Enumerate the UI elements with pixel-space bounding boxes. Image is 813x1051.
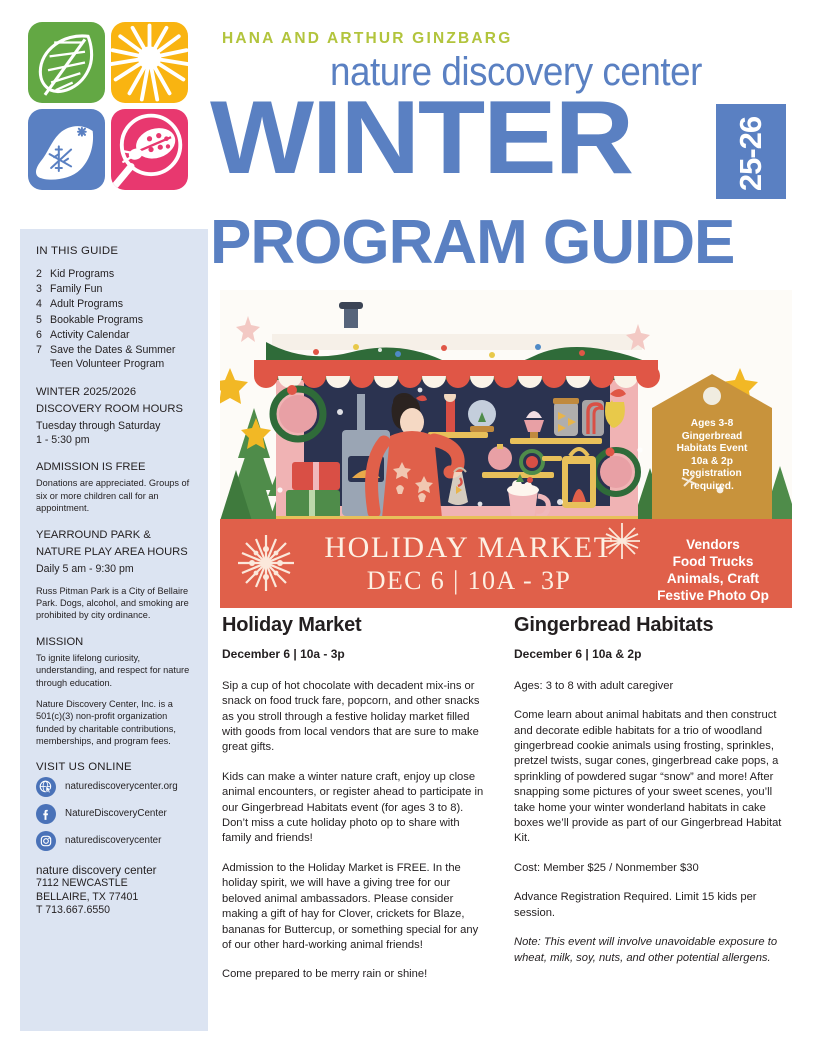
page-title: PROGRAM GUIDE	[210, 212, 734, 274]
sign-line: required.	[654, 481, 770, 494]
year-badge: 25-26	[716, 104, 786, 199]
program-guide-page: HANA AND ARTHUR GINZBARG nature discover…	[0, 0, 813, 1051]
admission-title: ADMISSION IS FREE	[36, 460, 192, 474]
list-item[interactable]: 7 Save the Dates & Summer Teen Volunteer…	[36, 343, 192, 371]
article-cost: Cost: Member $25 / Nonmember $30	[514, 861, 790, 876]
list-item[interactable]: 3 Family Fun	[36, 282, 192, 296]
address-city-state: BELLAIRE, TX 77401	[36, 891, 192, 905]
spacer	[36, 689, 192, 698]
magnifier-ladybug-icon	[111, 109, 188, 190]
toc-heading: IN THIS GUIDE	[36, 245, 192, 257]
season-title: WINTER	[210, 96, 632, 181]
article-paragraph: Come learn about animal habitats and the…	[514, 708, 790, 847]
holiday-market-poster: HOLIDAY MARKET DEC 6 | 10A - 3P Vendors …	[220, 290, 792, 608]
table-of-contents: 2 Kid Programs 3 Family Fun 4 Adult Prog…	[36, 267, 192, 371]
website-link[interactable]: naturediscoverycenter.org	[36, 777, 192, 797]
toc-label: Family Fun	[50, 282, 192, 296]
article-allergen-note: Note: This event will involve unavoidabl…	[514, 935, 790, 966]
address-name: nature discovery center	[36, 864, 192, 878]
sign-line: 10a & 2p	[654, 456, 770, 469]
address-block: nature discovery center 7112 NEWCASTLE B…	[36, 864, 192, 918]
article-ages: Ages: 3 to 8 with adult caregiver	[514, 679, 790, 694]
address-street: 7112 NEWCASTLE	[36, 877, 192, 891]
toc-page-number: 2	[36, 267, 50, 281]
park-hours-block: YEARROUND PARK & NATURE PLAY AREA HOURS …	[36, 528, 192, 622]
poster-features: Vendors Food Trucks Animals, Craft Festi…	[638, 536, 788, 604]
poster-title: HOLIDAY MARKET	[304, 531, 634, 565]
toc-label: Save the Dates & Summer Teen Volunteer P…	[50, 343, 192, 371]
article-holiday-market: Holiday Market December 6 | 10a - 3p Sip…	[222, 618, 486, 997]
toc-page-number: 7	[36, 343, 50, 371]
park-title-line2: NATURE PLAY AREA HOURS	[36, 545, 192, 559]
feature-line: Vendors	[638, 536, 788, 553]
org-tagline: HANA AND ARTHUR GINZBARG	[222, 30, 512, 48]
hours-time: 1 - 5:30 pm	[36, 433, 192, 447]
article-gingerbread-habitats: Gingerbread Habitats December 6 | 10a & …	[514, 618, 790, 980]
mission-block: MISSION To ignite lifelong curiosity, un…	[36, 635, 192, 748]
article-paragraph: Sip a cup of hot chocolate with decadent…	[222, 679, 486, 756]
facebook-icon	[36, 804, 56, 824]
year-badge-label: 25-26	[733, 106, 769, 202]
instagram-label: naturediscoverycenter	[65, 835, 161, 846]
article-registration: Advance Registration Required. Limit 15 …	[514, 890, 790, 921]
address-phone: T 713.667.6550	[36, 904, 192, 918]
toc-page-number: 6	[36, 328, 50, 342]
sun-icon	[111, 22, 188, 103]
page-header: HANA AND ARTHUR GINZBARG nature discover…	[0, 0, 813, 212]
info-sidebar: IN THIS GUIDE 2 Kid Programs 3 Family Fu…	[20, 229, 208, 1031]
list-item[interactable]: 5 Bookable Programs	[36, 313, 192, 327]
toc-page-number: 4	[36, 297, 50, 311]
article-paragraph: Admission to the Holiday Market is FREE.…	[222, 861, 486, 953]
visit-online-block: VISIT US ONLINE naturediscoverycenter.or…	[36, 761, 192, 851]
toc-page-number: 5	[36, 313, 50, 327]
discovery-room-hours-block: WINTER 2025/2026 DISCOVERY ROOM HOURS Tu…	[36, 385, 192, 447]
list-item[interactable]: 4 Adult Programs	[36, 297, 192, 311]
organization-logo	[28, 22, 188, 190]
list-item[interactable]: 6 Activity Calendar	[36, 328, 192, 342]
instagram-link[interactable]: naturediscoverycenter	[36, 831, 192, 851]
website-label: naturediscoverycenter.org	[65, 781, 178, 792]
toc-label: Activity Calendar	[50, 328, 192, 342]
website-globe-icon	[36, 777, 56, 797]
park-note: Russ Pitman Park is a City of Bellaire P…	[36, 585, 192, 622]
sign-line: Ages 3-8	[654, 418, 770, 431]
article-title: Holiday Market	[222, 618, 486, 633]
sign-line: Habitats Event	[654, 443, 770, 456]
bird-icon	[28, 109, 105, 190]
park-hours: Daily 5 am - 9:30 pm	[36, 562, 192, 576]
feature-line: Animals, Craft	[638, 570, 788, 587]
toc-label: Adult Programs	[50, 297, 192, 311]
facebook-label: NatureDiscoveryCenter	[65, 808, 167, 819]
mission-title: MISSION	[36, 635, 192, 649]
article-title: Gingerbread Habitats	[514, 618, 790, 633]
gingerbread-sign-text: Ages 3-8 Gingerbread Habitats Event 10a …	[654, 418, 770, 494]
article-paragraph: Come prepared to be merry rain or shine!	[222, 967, 486, 982]
park-title-line1: YEARROUND PARK &	[36, 528, 192, 542]
admission-block: ADMISSION IS FREE Donations are apprecia…	[36, 460, 192, 514]
list-item[interactable]: 2 Kid Programs	[36, 267, 192, 281]
toc-label: Kid Programs	[50, 267, 192, 281]
poster-banner: HOLIDAY MARKET DEC 6 | 10A - 3P Vendors …	[220, 519, 792, 608]
toc-label: Bookable Programs	[50, 313, 192, 327]
facebook-link[interactable]: NatureDiscoveryCenter	[36, 804, 192, 824]
nonprofit-text: Nature Discovery Center, Inc. is a 501(c…	[36, 698, 192, 748]
sign-line: Gingerbread	[654, 431, 770, 444]
hours-title-line1: WINTER 2025/2026	[36, 385, 192, 399]
hours-title-line2: DISCOVERY ROOM HOURS	[36, 402, 192, 416]
toc-page-number: 3	[36, 282, 50, 296]
admission-note: Donations are appreciated. Groups of six…	[36, 477, 192, 514]
feature-line: Festive Photo Op	[638, 587, 788, 604]
feature-line: Food Trucks	[638, 553, 788, 570]
article-date: December 6 | 10a - 3p	[222, 647, 486, 662]
sign-line: Registration	[654, 468, 770, 481]
visit-online-title: VISIT US ONLINE	[36, 761, 192, 773]
article-date: December 6 | 10a & 2p	[514, 647, 790, 662]
poster-subtitle: DEC 6 | 10A - 3P	[304, 566, 634, 596]
leaf-icon	[28, 22, 105, 103]
mission-text: To ignite lifelong curiosity, understand…	[36, 652, 192, 689]
hours-days: Tuesday through Saturday	[36, 419, 192, 433]
instagram-icon	[36, 831, 56, 851]
spacer	[36, 576, 192, 585]
article-paragraph: Kids can make a winter nature craft, enj…	[222, 770, 486, 847]
